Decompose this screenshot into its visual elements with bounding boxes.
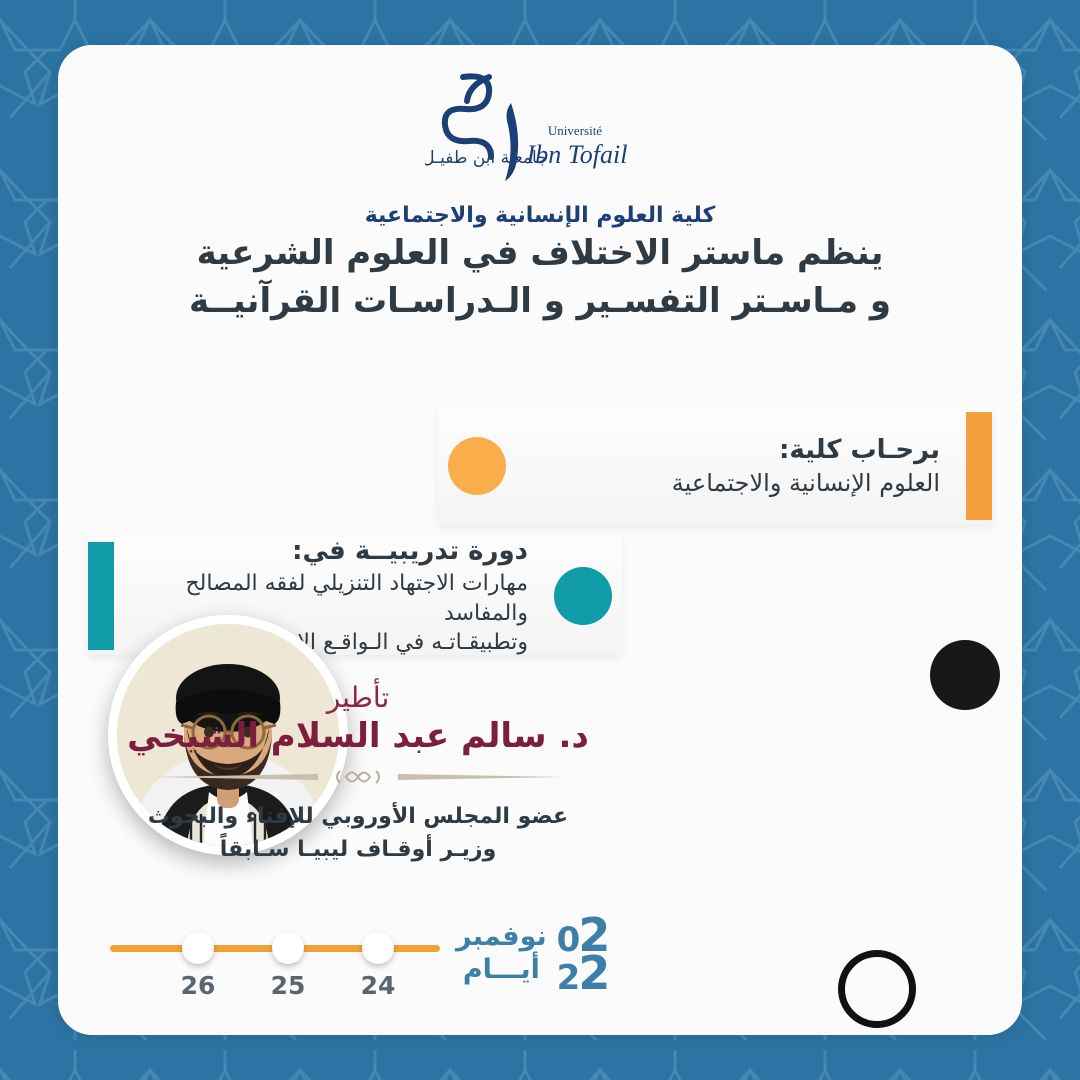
poster-canvas: Université Ibn Tofail جامعـة ابن طفيـل ك… bbox=[0, 0, 1080, 1080]
venue-info-row: برحـاب كلية: العلوم الإنسانية والاجتماعي… bbox=[438, 407, 992, 525]
ibn-tofail-university-logo: Université Ibn Tofail جامعـة ابن طفيـل bbox=[425, 67, 655, 199]
poster-card: Université Ibn Tofail جامعـة ابن طفيـل ك… bbox=[58, 45, 1022, 1035]
day-marker: 26 bbox=[168, 924, 228, 1000]
venue-heading: برحـاب كلية: bbox=[532, 433, 940, 468]
month-block: نوفمبر أيـــام bbox=[456, 921, 547, 987]
day-number: 25 bbox=[258, 971, 318, 1000]
day-knob bbox=[272, 932, 304, 964]
title-line-1: ينظم ماستر الاختلاف في العلوم الشرعية bbox=[58, 229, 1022, 277]
teal-accent-bar bbox=[88, 542, 114, 650]
speaker-name: د. سالم عبد السلام الشيخي bbox=[98, 716, 618, 756]
logo-arabic-text: جامعـة ابن طفيـل bbox=[425, 148, 548, 168]
year-digit-2: 0 bbox=[557, 926, 579, 955]
orange-circle-marker bbox=[448, 437, 506, 495]
day-knob bbox=[182, 932, 214, 964]
orange-accent-bar bbox=[966, 412, 992, 520]
venue-value: العلوم الإنسانية والاجتماعية bbox=[532, 467, 940, 499]
days-label: أيـــام bbox=[456, 954, 547, 987]
day-marker: 24 bbox=[348, 924, 408, 1000]
days-timeline: 24 25 26 bbox=[110, 924, 440, 984]
speaker-block: تأطير د. سالم عبد السلام الشيخي عضو المج… bbox=[98, 681, 618, 866]
course-heading: دورة تدريبيــة في: bbox=[140, 534, 528, 569]
teal-circle-marker bbox=[554, 567, 612, 625]
day-knob bbox=[362, 932, 394, 964]
day-marker: 25 bbox=[258, 924, 318, 1000]
speaker-label: تأطير bbox=[98, 681, 618, 714]
black-filled-circle-decoration bbox=[930, 640, 1000, 710]
year-2022: 2 0 2 2 bbox=[557, 916, 609, 993]
day-number: 24 bbox=[348, 971, 408, 1000]
year-digit-4: 2 bbox=[557, 964, 579, 993]
title-line-2: و مـاسـتر التفسـير و الـدراسـات القرآنيـ… bbox=[58, 277, 1022, 325]
poster-header: Université Ibn Tofail جامعـة ابن طفيـل ك… bbox=[58, 45, 1022, 228]
venue-text: برحـاب كلية: العلوم الإنسانية والاجتماعي… bbox=[506, 433, 966, 500]
day-number: 26 bbox=[168, 971, 228, 1000]
black-outline-circle-decoration bbox=[838, 950, 916, 1028]
ornament-divider bbox=[148, 766, 568, 788]
page-title: ينظم ماستر الاختلاف في العلوم الشرعية و … bbox=[58, 229, 1022, 326]
year-digit-3: 2 bbox=[578, 954, 608, 993]
faculty-name: كلية العلوم الإنسانية والاجتماعية bbox=[58, 203, 1022, 228]
month-name: نوفمبر bbox=[456, 921, 547, 954]
event-dates: 2 0 2 2 نوفمبر أيـــام 24 25 bbox=[110, 916, 608, 993]
speaker-role-1: عضو المجلس الأوروبي للإفتاء والبحوث bbox=[98, 800, 618, 833]
logo-latin-text: Université bbox=[548, 123, 602, 138]
speaker-role-2: وزيـر أوقـاف ليبيـا سـابقاً bbox=[98, 833, 618, 866]
